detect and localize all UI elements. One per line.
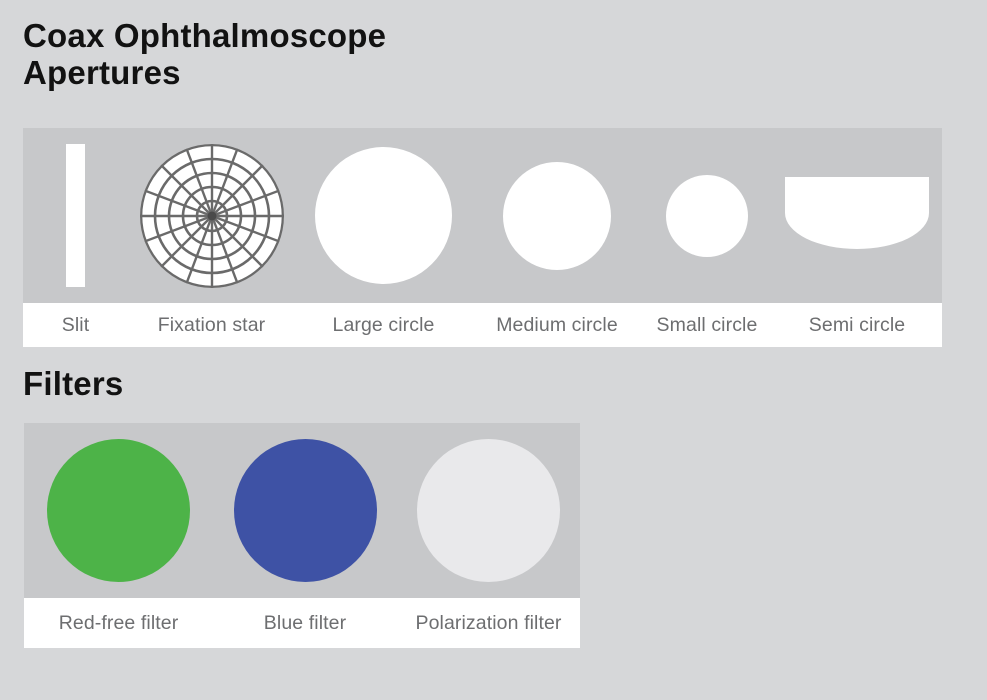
filter-label-blue: Blue filter	[213, 598, 397, 648]
filters-label-strip: Red-free filter Blue filter Polarization…	[24, 598, 580, 648]
aperture-label-medium-circle: Medium circle	[472, 303, 642, 347]
aperture-shape-semi-circle	[772, 128, 942, 303]
aperture-label-slit: Slit	[23, 303, 128, 347]
semi-circle-icon	[785, 177, 929, 249]
apertures-section-title: Coax Ophthalmoscope Apertures	[23, 18, 543, 92]
filter-label-red-free: Red-free filter	[24, 598, 213, 648]
aperture-shape-medium-circle	[472, 128, 642, 303]
small-circle-icon	[666, 175, 748, 257]
red-free-filter-icon	[47, 439, 190, 582]
apertures-shape-panel	[23, 128, 942, 303]
aperture-label-fixation-star: Fixation star	[128, 303, 295, 347]
apertures-shape-row	[23, 128, 942, 303]
apertures-label-strip: Slit Fixation star Large circle Medium c…	[23, 303, 942, 347]
filters-shape-row	[24, 423, 580, 598]
filter-label-polarization: Polarization filter	[397, 598, 580, 648]
medium-circle-icon	[503, 162, 611, 270]
filter-shape-polarization	[397, 423, 580, 598]
fixation-star-icon	[138, 142, 286, 290]
aperture-shape-fixation-star	[128, 128, 295, 303]
large-circle-icon	[315, 147, 452, 284]
aperture-shape-large-circle	[295, 128, 472, 303]
blue-filter-icon	[234, 439, 377, 582]
filter-shape-blue	[213, 423, 397, 598]
slit-icon	[66, 144, 85, 287]
filters-section-title: Filters	[23, 366, 123, 403]
aperture-shape-small-circle	[642, 128, 772, 303]
aperture-shape-slit	[23, 128, 128, 303]
filters-shape-panel	[24, 423, 580, 598]
filter-shape-red-free	[24, 423, 213, 598]
aperture-label-large-circle: Large circle	[295, 303, 472, 347]
aperture-label-semi-circle: Semi circle	[772, 303, 942, 347]
polarization-filter-icon	[417, 439, 560, 582]
aperture-label-small-circle: Small circle	[642, 303, 772, 347]
